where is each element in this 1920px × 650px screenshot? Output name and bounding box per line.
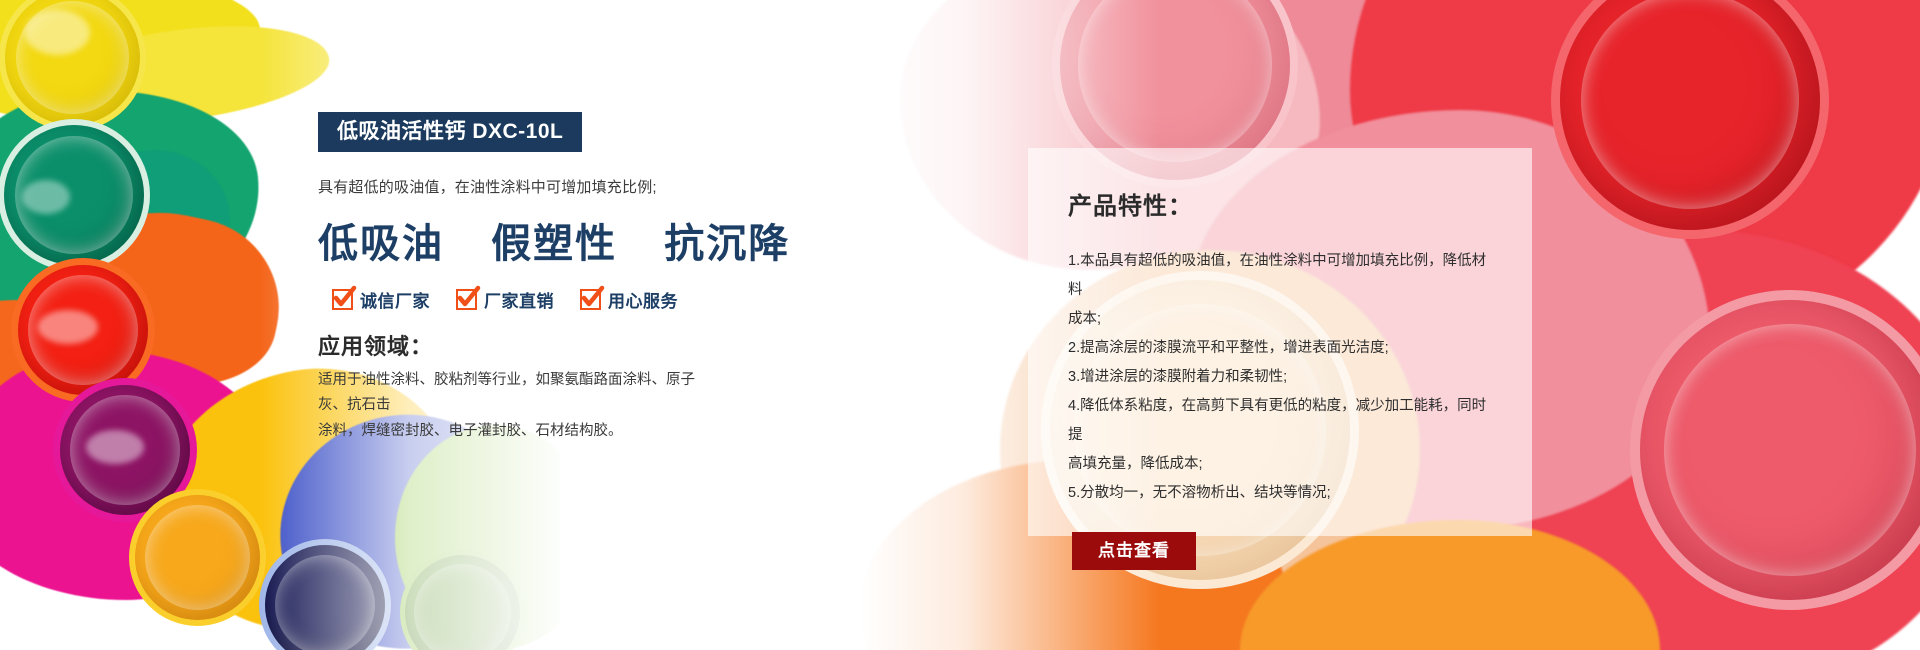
- paint-can-yellow-gloss: [25, 10, 90, 55]
- trust-badge-row: 诚信厂家 厂家直销 用心服务: [318, 287, 938, 312]
- paint-can-teal-gloss: [22, 180, 70, 214]
- headline-word-3: 抗沉降: [664, 222, 790, 266]
- feature-line: 成本;: [1068, 305, 1492, 334]
- product-features-panel: 产品特性： 1.本品具有超低的吸油值，在油性涂料中可增加填充比例，降低材料 成本…: [1028, 148, 1532, 536]
- paint-can-red-gloss: [38, 310, 98, 344]
- product-title-badge: 低吸油活性钙 DXC-10L: [318, 112, 582, 152]
- trust-badge-label: 厂家直销: [484, 287, 554, 312]
- feature-line: 4.降低体系粘度，在高剪下具有更低的粘度，减少加工能耗，同时提: [1068, 392, 1492, 450]
- view-details-button[interactable]: 点击查看: [1072, 532, 1196, 570]
- application-fields-line: 适用于油性涂料、胶粘剂等行业，如聚氨酯路面涂料、原子灰、抗石击: [318, 368, 718, 419]
- trust-badge-label: 用心服务: [608, 287, 678, 312]
- application-fields-body: 适用于油性涂料、胶粘剂等行业，如聚氨酯路面涂料、原子灰、抗石击 涂料，焊缝密封胶…: [318, 368, 718, 444]
- left-content-block: 低吸油活性钙 DXC-10L 具有超低的吸油值，在油性涂料中可增加填充比例; 低…: [318, 112, 938, 444]
- trust-badge-factory-direct[interactable]: 厂家直销: [456, 287, 554, 312]
- trust-badge-attentive-service[interactable]: 用心服务: [580, 287, 678, 312]
- headline-word-2: 假塑性: [491, 222, 617, 266]
- paint-can-rose-lower: [1640, 300, 1920, 600]
- product-headline: 低吸油 假塑性 抗沉降: [318, 211, 938, 269]
- feature-line: 2.提高涂层的漆膜流平和平整性，增进表面光洁度;: [1068, 334, 1492, 363]
- paint-can-purple-gloss: [86, 430, 144, 464]
- trust-badge-honest-manufacturer[interactable]: 诚信厂家: [332, 287, 430, 312]
- product-banner: 低吸油活性钙 DXC-10L 具有超低的吸油值，在油性涂料中可增加填充比例; 低…: [0, 0, 1920, 650]
- features-panel-title: 产品特性：: [1068, 186, 1492, 221]
- headline-word-1: 低吸油: [318, 222, 444, 266]
- feature-line: 5.分散均一，无不溶物析出、结块等情况;: [1068, 479, 1492, 508]
- feature-line: 3.增进涂层的漆膜附着力和柔韧性;: [1068, 363, 1492, 392]
- features-list: 1.本品具有超低的吸油值，在油性涂料中可增加填充比例，降低材料 成本; 2.提高…: [1068, 247, 1492, 508]
- feature-line: 高填充量，降低成本;: [1068, 450, 1492, 479]
- checkbox-check-icon: [580, 289, 601, 310]
- application-fields-line: 涂料，焊缝密封胶、电子灌封胶、石材结构胶。: [318, 419, 718, 444]
- feature-line: 1.本品具有超低的吸油值，在油性涂料中可增加填充比例，降低材料: [1068, 247, 1492, 305]
- application-fields-title: 应用领域：: [318, 329, 938, 361]
- paint-can-amber: [135, 495, 260, 620]
- checkbox-check-icon: [332, 289, 353, 310]
- product-subtitle: 具有超低的吸油值，在油性涂料中可增加填充比例;: [318, 176, 938, 197]
- trust-badge-label: 诚信厂家: [360, 287, 430, 312]
- checkbox-check-icon: [456, 289, 477, 310]
